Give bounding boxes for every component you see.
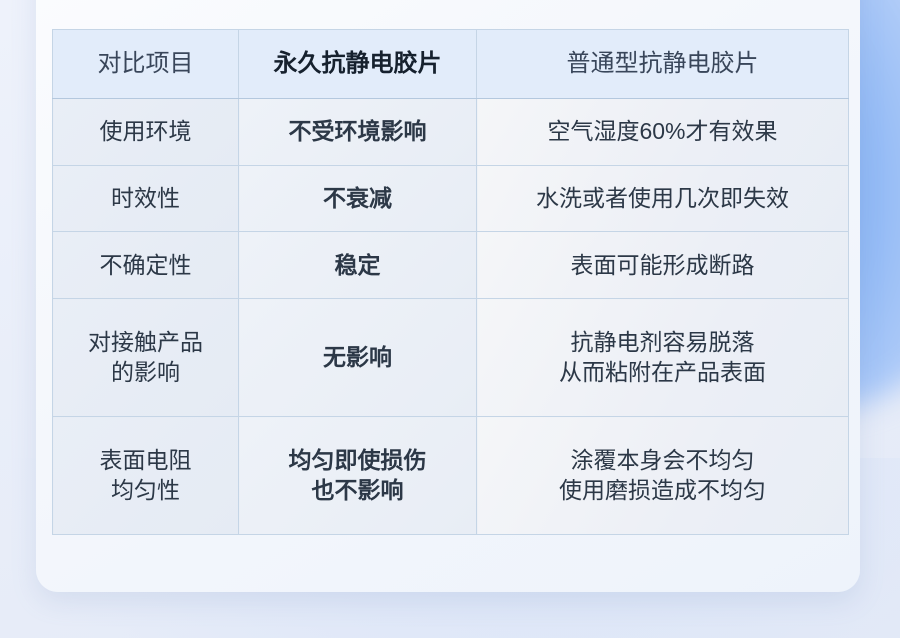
cell-ordinary: 涂覆本身会不均匀 使用磨损造成不均匀 — [477, 417, 849, 535]
cell-line: 空气湿度60%才有效果 — [483, 117, 842, 146]
cell-ordinary: 水洗或者使用几次即失效 — [477, 165, 849, 232]
cell-item: 表面电阻 均匀性 — [53, 417, 239, 535]
table-row: 不确定性 稳定 表面可能形成断路 — [53, 232, 849, 299]
cell-line: 使用环境 — [59, 117, 232, 146]
header-cell-item: 对比项目 — [53, 30, 239, 99]
cell-line: 的影响 — [59, 358, 232, 387]
cell-ordinary: 空气湿度60%才有效果 — [477, 98, 849, 165]
table-row: 时效性 不衰减 水洗或者使用几次即失效 — [53, 165, 849, 232]
cell-permanent: 稳定 — [239, 232, 477, 299]
cell-line: 无影响 — [245, 343, 470, 372]
table-row: 使用环境 不受环境影响 空气湿度60%才有效果 — [53, 98, 849, 165]
page-root: 对比项目 永久抗静电胶片 普通型抗静电胶片 使用环境 不受环境影响 空气湿度60… — [0, 0, 900, 638]
cell-permanent: 不受环境影响 — [239, 98, 477, 165]
cell-item: 对接触产品 的影响 — [53, 299, 239, 417]
table-header-row: 对比项目 永久抗静电胶片 普通型抗静电胶片 — [53, 30, 849, 99]
cell-line: 稳定 — [245, 251, 470, 280]
comparison-table-body: 对比项目 永久抗静电胶片 普通型抗静电胶片 使用环境 不受环境影响 空气湿度60… — [53, 30, 849, 535]
cell-line: 不衰减 — [245, 184, 470, 213]
header-cell-permanent: 永久抗静电胶片 — [239, 30, 477, 99]
cell-line: 从而粘附在产品表面 — [483, 358, 842, 387]
cell-line: 不确定性 — [59, 251, 232, 280]
cell-permanent: 均匀即使损伤 也不影响 — [239, 417, 477, 535]
cell-line: 不受环境影响 — [245, 117, 470, 146]
cell-line: 表面电阻 — [59, 446, 232, 475]
table-row: 表面电阻 均匀性 均匀即使损伤 也不影响 涂覆本身会不均匀 使用磨损造成不均匀 — [53, 417, 849, 535]
cell-line: 均匀性 — [59, 476, 232, 505]
cell-line: 水洗或者使用几次即失效 — [483, 184, 842, 213]
cell-permanent: 无影响 — [239, 299, 477, 417]
cell-line: 抗静电剂容易脱落 — [483, 328, 842, 357]
cell-line: 均匀即使损伤 — [245, 446, 470, 475]
table-row: 对接触产品 的影响 无影响 抗静电剂容易脱落 从而粘附在产品表面 — [53, 299, 849, 417]
cell-item: 使用环境 — [53, 98, 239, 165]
cell-permanent: 不衰减 — [239, 165, 477, 232]
header-cell-ordinary: 普通型抗静电胶片 — [477, 30, 849, 99]
cell-line: 对接触产品 — [59, 328, 232, 357]
cell-item: 不确定性 — [53, 232, 239, 299]
comparison-table: 对比项目 永久抗静电胶片 普通型抗静电胶片 使用环境 不受环境影响 空气湿度60… — [52, 29, 849, 535]
cell-line: 涂覆本身会不均匀 — [483, 446, 842, 475]
cell-line: 表面可能形成断路 — [483, 251, 842, 280]
comparison-table-container: 对比项目 永久抗静电胶片 普通型抗静电胶片 使用环境 不受环境影响 空气湿度60… — [52, 29, 848, 535]
cell-ordinary: 表面可能形成断路 — [477, 232, 849, 299]
cell-line: 也不影响 — [245, 476, 470, 505]
cell-ordinary: 抗静电剂容易脱落 从而粘附在产品表面 — [477, 299, 849, 417]
cell-item: 时效性 — [53, 165, 239, 232]
cell-line: 时效性 — [59, 184, 232, 213]
cell-line: 使用磨损造成不均匀 — [483, 476, 842, 505]
